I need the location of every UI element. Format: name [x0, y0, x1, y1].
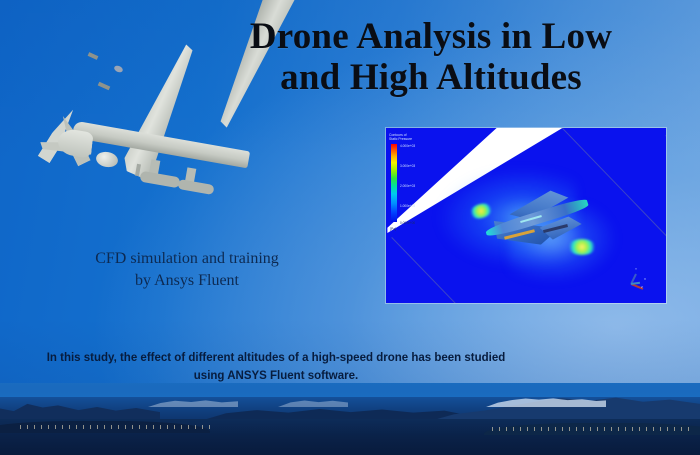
drone-wing-roundel [113, 64, 124, 73]
cfd-drone-model [464, 184, 604, 261]
drone-wing-marking-1 [98, 82, 111, 91]
cfd-axis-z-label: Z [641, 285, 643, 289]
poster-subtitle: CFD simulation and training by Ansys Flu… [52, 248, 322, 291]
title-line-2: and High Altitudes [196, 57, 666, 98]
poster-canvas: Drone Analysis in Low and High Altitudes… [0, 0, 700, 455]
drone-sensor-turret [95, 150, 119, 169]
poster-caption: In this study, the effect of different a… [16, 350, 536, 386]
cfd-contour-panel: Contours of Static Pressure 4.000e+03 3.… [386, 128, 666, 303]
cfd-legend: Contours of Static Pressure 4.000e+03 3.… [389, 133, 443, 142]
landscape-photo-strip [0, 383, 700, 455]
landscape-town-lights-right [492, 427, 692, 431]
cfd-legend-unit: [Pa] [390, 227, 396, 231]
drone-payload-pod-inner [139, 171, 180, 189]
cfd-legend-tick-1: 3.000e+03 [400, 164, 415, 168]
caption-line-1: In this study, the effect of different a… [16, 350, 536, 368]
subtitle-line-2: by Ansys Fluent [52, 270, 322, 292]
cfd-legend-tick-0: 4.000e+03 [400, 144, 415, 148]
cfd-legend-tick-2: 2.000e+03 [400, 184, 415, 188]
cfd-legend-title-line-2: Static Pressure [389, 137, 443, 141]
cfd-legend-ticks: 4.000e+03 3.000e+03 2.000e+03 1.000e+03 [400, 142, 444, 226]
drone-wing-marking-2 [88, 52, 99, 60]
landscape-town-lights-left [20, 425, 210, 429]
cfd-axis-x-label: X [644, 277, 646, 281]
drone-right-wing [117, 39, 205, 181]
cfd-legend-colorbar [391, 144, 397, 222]
cfd-axis-triad: X Y Z [628, 267, 650, 289]
cfd-stagnation-point-nose [468, 201, 493, 221]
cfd-axis-y-label: Y [635, 267, 637, 271]
landscape-top-fade [0, 383, 700, 397]
cfd-legend-min-value: 0.000e+00 [400, 221, 415, 225]
poster-title: Drone Analysis in Low and High Altitudes [196, 16, 666, 99]
subtitle-line-1: CFD simulation and training [52, 248, 322, 270]
title-line-1: Drone Analysis in Low [196, 16, 666, 57]
cfd-legend-tick-3: 1.000e+03 [400, 204, 415, 208]
drone-payload-pod-outer [177, 179, 214, 195]
cfd-stagnation-point-wingtip [568, 239, 596, 254]
